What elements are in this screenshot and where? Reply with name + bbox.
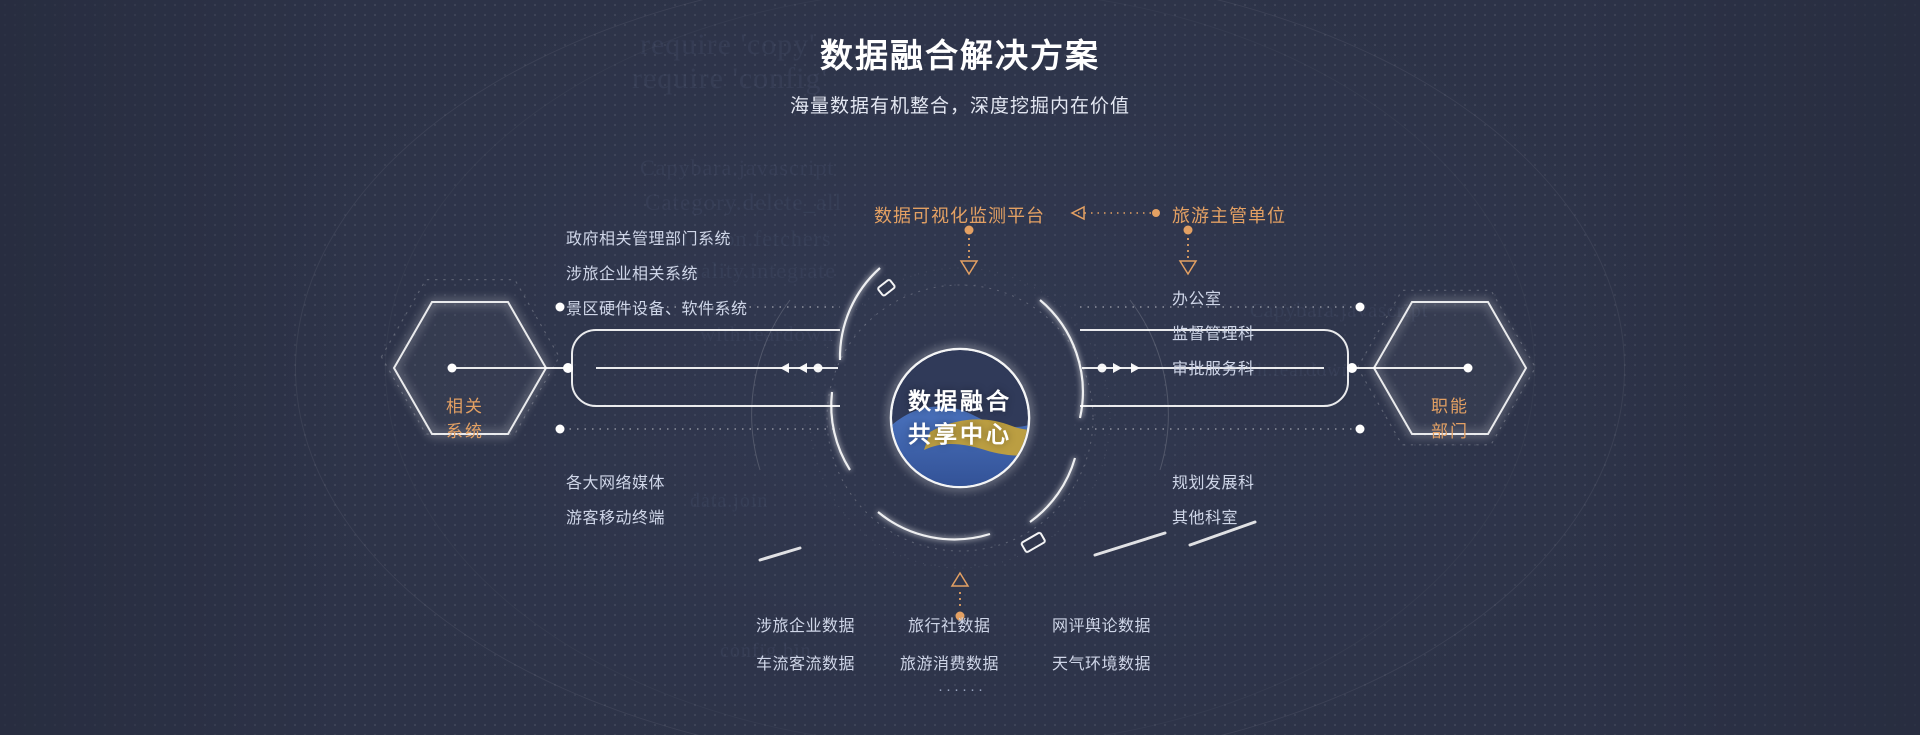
- left-label-3: 各大网络媒体: [566, 469, 665, 493]
- right-label-2: 审批服务科: [1172, 355, 1255, 379]
- left-label-4: 游客移动终端: [566, 504, 665, 528]
- header: 数据融合解决方案 海量数据有机整合，深度挖掘内在价值: [0, 0, 1920, 118]
- center-hub-line1: 数据融合: [830, 385, 1090, 418]
- node-visualization-platform[interactable]: 数据可视化监测平台: [874, 202, 1045, 228]
- bottom-more-indicator: ······: [938, 681, 986, 698]
- right-label-3: 规划发展科: [1172, 469, 1255, 493]
- right-label-0: 办公室: [1172, 285, 1222, 309]
- bottom-label-r1c2: 天气环境数据: [1052, 650, 1151, 674]
- bottom-label-r1c1: 旅游消费数据: [900, 650, 999, 674]
- page-subtitle: 海量数据有机整合，深度挖掘内在价值: [0, 91, 1920, 118]
- bottom-label-r1c0: 车流客流数据: [756, 650, 855, 674]
- hexagon-right-line2: 部门: [1395, 420, 1505, 445]
- right-label-1: 监督管理科: [1172, 320, 1255, 344]
- hexagon-left-line2: 系统: [410, 420, 520, 445]
- bottom-label-r0c0: 涉旅企业数据: [756, 612, 855, 636]
- left-label-1: 涉旅企业相关系统: [566, 260, 698, 284]
- bottom-label-r0c2: 网评舆论数据: [1052, 612, 1151, 636]
- bottom-label-r0c1: 旅行社数据: [908, 612, 991, 636]
- hexagon-right-line1: 职能: [1395, 395, 1505, 420]
- hexagon-left-line1: 相关: [410, 395, 520, 420]
- center-hub-label: 数据融合 共享中心: [830, 385, 1090, 452]
- center-hub-line2: 共享中心: [830, 418, 1090, 451]
- left-label-2: 景区硬件设备、软件系统: [566, 295, 748, 319]
- page-title: 数据融合解决方案: [0, 36, 1920, 76]
- hexagon-right-label: 职能 部门: [1395, 395, 1505, 444]
- node-tourism-authority[interactable]: 旅游主管单位: [1172, 202, 1286, 228]
- left-label-0: 政府相关管理部门系统: [566, 225, 731, 249]
- hexagon-left-label: 相关 系统: [410, 395, 520, 444]
- right-label-4: 其他科室: [1172, 504, 1238, 528]
